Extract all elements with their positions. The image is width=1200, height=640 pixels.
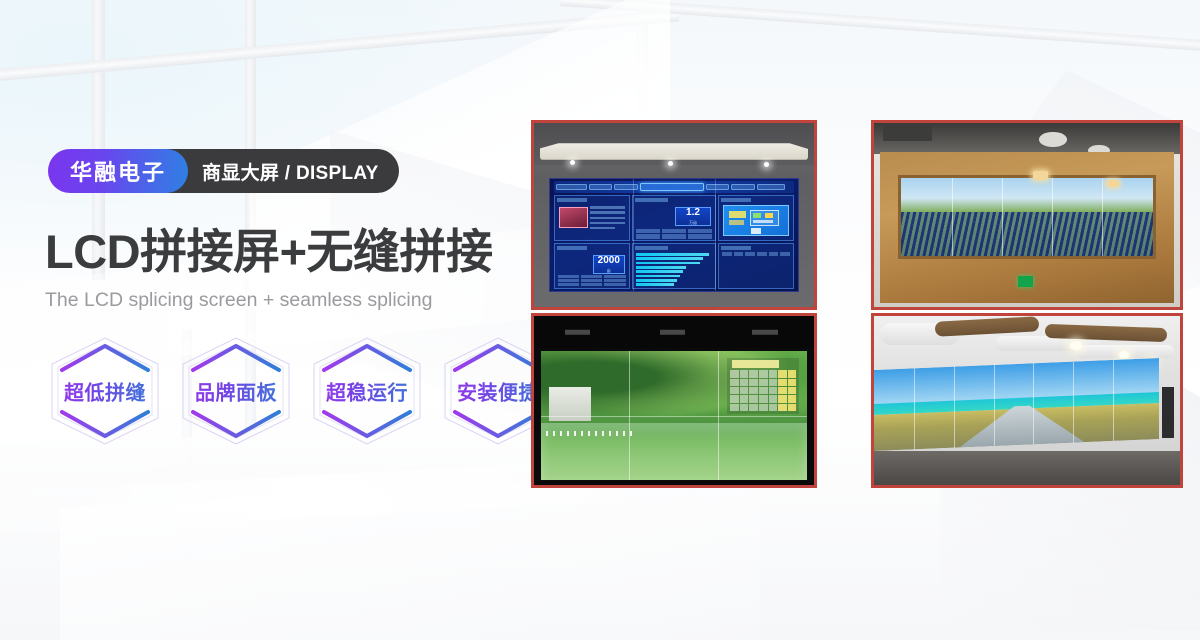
wall-washer-light [1107,180,1119,187]
pie-legend [722,252,790,256]
feature-list: 超低拼缝 品牌面板 超稳运行 [46,332,557,450]
metric-value: 2000 [598,256,620,266]
intro-thumbnail [559,207,588,227]
dashboard-nav-tab[interactable] [731,184,755,191]
feature-item-1[interactable]: 品牌面板 [177,332,295,450]
donut-legend [636,229,712,239]
metric-value: 1.2 [686,208,700,218]
metric-card-area: 1.2 万亩 [675,207,711,226]
downlight-icon [764,162,769,167]
video-wall-screen [901,178,1152,257]
headline-block: LCD拼接屏+无缝拼接 The LCD splicing screen + se… [45,228,565,312]
bar [636,270,683,273]
feature-item-2[interactable]: 超稳运行 [308,332,426,450]
calendar-grid [730,370,796,411]
dashboard-header-bar [554,181,794,192]
dashboard-platform-title [640,183,704,191]
feature-item-0[interactable]: 超低拼缝 [46,332,164,450]
solar-room-scene [874,123,1180,307]
bar [636,279,677,282]
willow-lake-video-wall-photo[interactable] [531,313,817,488]
feature-label: 品牌面板 [177,377,295,406]
ceiling-vent-icon [883,125,932,142]
bar [636,253,709,256]
pie-chart [728,259,747,278]
horizontal-bar-chart [636,253,712,286]
bar [636,283,674,286]
dashboard-nav-tab[interactable] [614,184,638,191]
metric-unit: 万亩 [689,220,697,226]
lakeside-railing [546,431,637,436]
pie-chart [765,259,784,278]
ceiling-cove [540,143,809,160]
dashboard-timestamp [556,184,587,191]
metric-card-area: 2000 亩 [593,255,625,274]
dashboard-nav-tab[interactable] [589,184,613,191]
dashboard-nav-tab[interactable] [706,184,730,191]
dashboard-card-distribution: 1.2 万亩 [632,195,717,241]
feature-label: 超稳运行 [308,377,426,406]
screen-seam [541,416,808,417]
bar [636,257,703,260]
wall-edge [1162,387,1174,438]
lcd-video-wall-dashboard-photo[interactable]: 1.2 万亩 [531,120,817,310]
brand-badge: 华融电子 [48,149,188,193]
brand-badge-row: 华融电子 商显大屏 / DISPLAY [48,149,399,193]
lobby-curved-video-wall-photo[interactable] [871,313,1183,488]
dashboard-card-ratio [718,243,794,289]
page-title: LCD拼接屏+无缝拼接 [45,228,565,277]
ceiling-speaker-icon [1039,132,1067,147]
intro-text-lines [590,206,625,229]
wall-washer-light [1033,171,1048,180]
screen-seam [633,179,634,291]
dashboard-card-ranking [632,243,717,289]
exit-sign-icon [1018,276,1033,287]
feature-label: 超低拼缝 [46,377,164,406]
dashboard-card-grid: 1.2 万亩 [554,195,794,289]
dashboard-card-intro [554,195,630,241]
bar [636,266,686,269]
video-wall-top-row [534,316,814,348]
video-wall-screen [541,351,808,479]
curved-video-wall-screen [874,358,1159,451]
donut-legend [558,275,626,286]
calendar-widget [727,358,799,415]
screen-seam [715,179,716,291]
ceiling-downlight-icon [1070,341,1082,349]
page-subtitle: The LCD splicing screen + seamless splic… [45,289,565,312]
lobby-floor [874,451,1180,485]
dashboard-screen: 1.2 万亩 [549,178,798,292]
dashboard-card-flow [718,195,794,241]
wood-room-video-wall-photo[interactable] [871,120,1183,310]
lobby-scene [874,316,1180,485]
dashboard-card-area-stats: 2000 亩 [554,243,630,289]
bar [636,275,680,278]
dashboard-status-area [757,184,785,191]
calendar-title [732,360,779,367]
dashboard-room-scene: 1.2 万亩 [534,123,814,307]
solar-farm-image [901,212,1152,256]
flow-diagram [723,205,789,237]
video-wall-frame [898,175,1155,260]
bar [636,262,700,265]
willow-wall-scene [534,316,814,485]
metric-unit: 亩 [607,268,611,274]
ceiling-downlight-icon [1119,351,1129,358]
